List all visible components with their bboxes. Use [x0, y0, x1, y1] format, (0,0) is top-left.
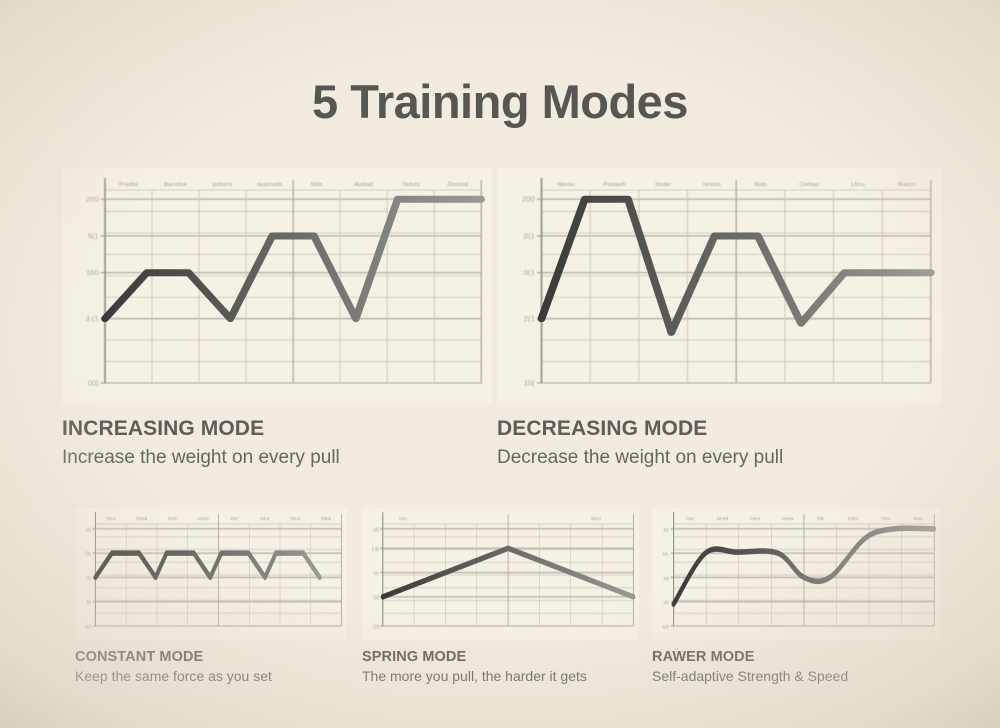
svg-text:Ruezn: Ruezn	[898, 182, 916, 188]
svg-text:10(: 10(	[524, 379, 536, 388]
svg-text:Emnnw: Emnnw	[750, 517, 760, 522]
chart-spring: 2d05.06-t3v23010dSnetuBamod	[362, 508, 639, 640]
svg-text:7d3: 7d3	[86, 575, 92, 581]
svg-text:3.(1: 3.(1	[86, 314, 99, 323]
svg-text:200: 200	[522, 195, 535, 204]
svg-text:Stobun: Stobun	[106, 516, 115, 521]
svg-text:Inuter: Inuter	[655, 182, 671, 188]
svg-text:Austad: Austad	[354, 182, 372, 188]
svg-text:Nrblut: Nrblut	[230, 516, 238, 521]
svg-text:Binnukt: Binnukt	[321, 516, 330, 521]
svg-text:9d0t: 9d0t	[662, 624, 670, 630]
mode-card-spring: 2d05.06-t3v23010dSnetuBamod SPRING MODE …	[362, 508, 639, 684]
svg-text:2d0.: 2d0.	[662, 551, 669, 557]
svg-text:Trbbb: Trbbb	[816, 517, 824, 522]
svg-text:Nuts: Nuts	[754, 182, 767, 188]
svg-text:Emmuak: Emmuak	[136, 516, 147, 521]
svg-text:2d0: 2d0	[373, 527, 379, 533]
svg-text:Kosmlua: Kosmlua	[198, 516, 209, 521]
svg-text:Bacotine: Bacotine	[164, 182, 187, 188]
svg-text:2(1: 2(1	[524, 232, 535, 241]
svg-text:potcers: potcers	[213, 182, 232, 188]
page-title: 5 Training Modes	[0, 78, 1000, 125]
svg-text:aysenods: aysenods	[257, 182, 282, 188]
mode-title-spring: SPRING MODE	[362, 649, 639, 665]
mode-description-increasing: Increase the weight on every pull	[62, 447, 492, 469]
mode-description-decreasing: Decrease the weight on every pull	[497, 447, 942, 469]
svg-text:200: 200	[86, 195, 99, 204]
mode-description-spring: The more you pull, the harder it gets	[362, 668, 639, 684]
svg-text:2(1: 2(1	[524, 315, 535, 324]
svg-text:Pradax: Pradax	[119, 182, 138, 188]
svg-text:Lfzru: Lfzru	[851, 182, 865, 188]
chart-constant: 3d0200.7d3J909U0StobunEmmuakEmmmKosmluaN…	[75, 508, 347, 640]
mode-title-increasing: INCREASING MODE	[62, 417, 492, 441]
mode-description-rawer: Self-adaptive Strength & Speed	[652, 668, 940, 684]
mode-description-constant: Keep the same force as you set	[75, 668, 347, 684]
svg-text:2d0: 2d0	[663, 600, 669, 606]
svg-text:5(1: 5(1	[88, 232, 99, 241]
svg-text:newos: newos	[703, 182, 721, 188]
svg-text:10d: 10d	[373, 624, 379, 630]
svg-text:4d0: 4d0	[663, 575, 669, 581]
svg-text:Tarturs: Tarturs	[402, 182, 420, 188]
mode-title-decreasing: DECREASING MODE	[497, 417, 942, 441]
svg-text:5.06: 5.06	[372, 546, 379, 552]
svg-text:00): 00)	[88, 379, 99, 388]
infographic-page: 5 Training Modes 2005(11603.(100)PradaxB…	[0, 0, 1000, 728]
svg-text:Tebura: Tebura	[881, 517, 891, 522]
chart-increasing: 2005(11603.(100)PradaxBacotinepotcersays…	[62, 168, 492, 403]
svg-text:9U0: 9U0	[85, 624, 92, 630]
mode-title-constant: CONSTANT MODE	[75, 649, 347, 665]
svg-text:Kosmtua: Kosmtua	[782, 517, 795, 522]
svg-text:Crebaz: Crebaz	[799, 182, 819, 188]
svg-text:3d1: 3d1	[663, 527, 669, 533]
mode-card-rawer: 3d12d0.4d02d09d0tVnbutBemwokEmnnwKosmtua…	[652, 508, 940, 684]
svg-text:J90: J90	[86, 600, 92, 606]
svg-text:-t3v: -t3v	[373, 570, 379, 576]
svg-text:Nudnut: Nudnut	[848, 517, 858, 522]
svg-text:Vnbut: Vnbut	[686, 517, 694, 522]
svg-text:Nitis: Nitis	[311, 182, 323, 188]
svg-text:Bnnwat: Bnnwat	[913, 517, 923, 522]
chart-decreasing: 2002(10(12(110(NavouPanawhInuternewosNut…	[497, 168, 942, 403]
svg-text:200.: 200.	[85, 551, 92, 557]
mode-title-rawer: RAWER MODE	[652, 649, 940, 665]
mode-card-constant: 3d0200.7d3J909U0StobunEmmuakEmmmKosmluaN…	[75, 508, 347, 684]
svg-text:230: 230	[373, 595, 379, 601]
svg-text:Navou: Navou	[557, 182, 575, 188]
svg-text:Emmm: Emmm	[168, 516, 177, 521]
svg-text:Bemwok: Bemwok	[717, 517, 729, 522]
svg-text:Hudnut: Hudnut	[260, 516, 269, 521]
svg-text:0(1: 0(1	[524, 269, 535, 278]
svg-text:160: 160	[86, 268, 99, 277]
chart-rawer: 3d12d0.4d02d09d0tVnbutBemwokEmnnwKosmtua…	[652, 508, 940, 640]
svg-text:3d0: 3d0	[86, 527, 92, 533]
svg-text:Snetu: Snetu	[399, 517, 407, 522]
svg-text:Panawh: Panawh	[603, 182, 625, 188]
svg-text:Bamod: Bamod	[591, 517, 600, 522]
svg-text:Dekuna: Dekuna	[290, 516, 300, 521]
series-line-constant	[95, 553, 319, 577]
mode-card-decreasing: 2002(10(12(110(NavouPanawhInuternewosNut…	[497, 168, 942, 469]
svg-text:Ziomost: Ziomost	[447, 182, 468, 188]
mode-card-increasing: 2005(11603.(100)PradaxBacotinepotcersays…	[62, 168, 492, 469]
